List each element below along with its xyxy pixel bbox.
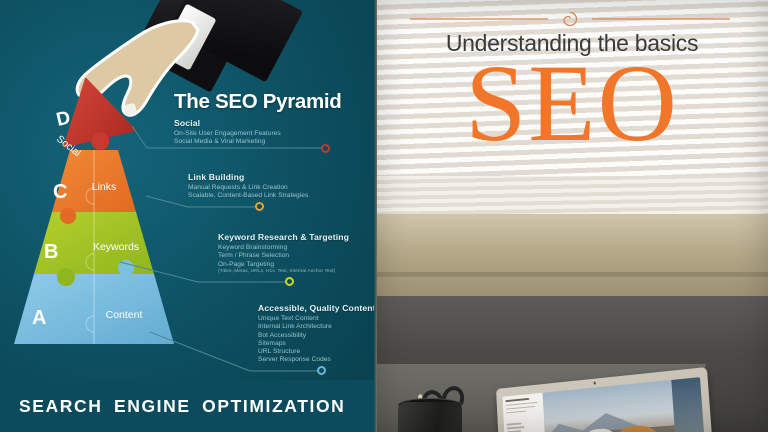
footer-label: SEARCH ENGINE OPTIMIZATION [0, 396, 345, 417]
left-infographic-panel: D C B A Social Links Keywords Content Th… [0, 0, 376, 432]
detail-block-social: Social On-Site User Engagement Features … [174, 118, 281, 147]
marker-ring-social-icon [321, 144, 330, 153]
marker-ring-content-icon [317, 366, 326, 375]
desk-photograph: MacBook Air [376, 176, 768, 432]
right-panel-headline: SEO [376, 48, 768, 158]
block-line: Bot Accessibility [258, 332, 376, 340]
block-line: Term / Phrase Selection [218, 252, 349, 260]
block-line: Sitemaps [258, 340, 376, 348]
wall-panel [376, 214, 768, 300]
block-line: Keyword Brainstorming [218, 244, 349, 252]
footer-bar: SEARCH ENGINE OPTIMIZATION [0, 380, 376, 432]
block-line: URL Structure [258, 348, 376, 356]
horizontal-rule-with-spiral-icon [410, 10, 730, 28]
block-line: Unique Text Content [258, 315, 376, 323]
page-title: The SEO Pyramid [174, 90, 342, 114]
seo-infographic-banner: D C B A Social Links Keywords Content Th… [0, 0, 768, 432]
block-line: On-Site User Engagement Features [174, 130, 281, 138]
laptop-screen-content [503, 377, 708, 432]
block-line: Internal Link Architecture [258, 323, 376, 331]
detail-block-link-building: Link Building Manual Requests & Link Cre… [188, 172, 308, 201]
detail-block-quality-content: Accessible, Quality Content Unique Text … [258, 303, 376, 365]
marker-ring-link-icon [255, 202, 264, 211]
detail-block-keyword-research: Keyword Research & Targeting Keyword Bra… [218, 232, 349, 275]
block-line: Manual Requests & Link Creation [188, 184, 308, 192]
block-line: Social Media & Viral Marketing [174, 138, 281, 146]
webpage-sidebar [503, 393, 548, 432]
webcam-icon [593, 382, 596, 385]
wall-trim-line [376, 272, 768, 277]
block-heading-social: Social [174, 118, 281, 128]
block-line: On-Page Targeting [218, 261, 349, 269]
block-heading-quality-content: Accessible, Quality Content [258, 303, 376, 313]
right-photo-panel: Understanding the basics SEO [376, 0, 768, 432]
block-note: (Titles, Metas, URLs, H1s, Text, Interna… [218, 269, 349, 276]
webpage-side-image [672, 377, 708, 432]
window-blinds [376, 176, 768, 218]
block-line: Scalable, Content-Based Link Strategies [188, 192, 308, 200]
block-heading-link-building: Link Building [188, 172, 308, 182]
pen-cup [398, 402, 462, 432]
block-heading-keyword-research: Keyword Research & Targeting [218, 232, 349, 242]
marker-ring-keyword-icon [285, 277, 294, 286]
block-line: Server Response Codes [258, 356, 376, 364]
panel-divider [374, 0, 377, 432]
